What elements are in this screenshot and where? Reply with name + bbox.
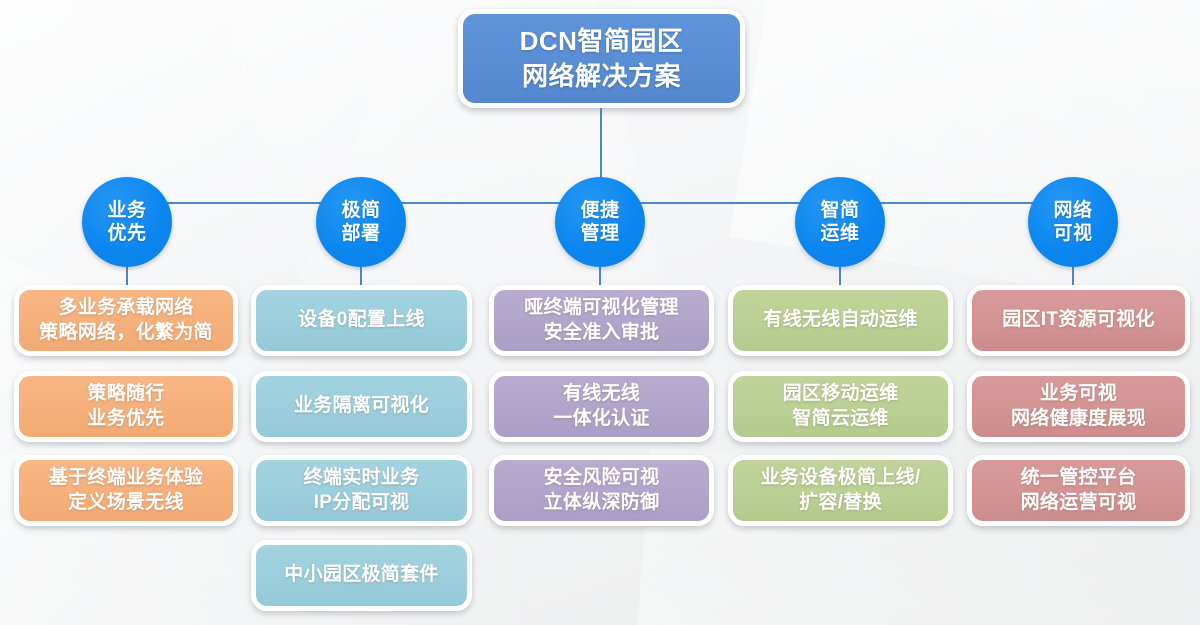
feature-box-text: 安全风险可视 立体纵深防御 xyxy=(544,466,660,515)
feature-box-simple-deployment-4[interactable]: 中小园区极简套件 xyxy=(251,540,472,611)
branch-node-label: 业务 优先 xyxy=(107,199,146,245)
branch-node-label: 网络 可视 xyxy=(1053,199,1092,245)
branch-node-network-visibility[interactable]: 网络 可视 xyxy=(1028,177,1118,267)
branch-node-simple-deployment[interactable]: 极简 部署 xyxy=(316,177,406,267)
feature-box-convenient-management-1[interactable]: 哑终端可视化管理 安全准入审批 xyxy=(489,285,714,356)
feature-box-network-visibility-1[interactable]: 园区IT资源可视化 xyxy=(967,285,1190,356)
branch-node-label: 智简 运维 xyxy=(820,199,859,245)
feature-box-network-visibility-3[interactable]: 统一管控平台 网络运营可视 xyxy=(967,455,1190,526)
background-facet xyxy=(730,0,1200,318)
solution-title-box: DCN智简园区 网络解决方案 xyxy=(458,9,745,108)
feature-box-smart-ops-1[interactable]: 有线无线自动运维 xyxy=(728,285,953,356)
feature-box-text: 统一管控平台 网络运营可视 xyxy=(1021,466,1137,515)
feature-box-text: 业务隔离可视化 xyxy=(294,394,429,419)
feature-box-text: 多业务承载网络 策略网络，化繁为简 xyxy=(39,296,213,345)
feature-box-text: 中小园区极简套件 xyxy=(284,563,438,588)
branch-node-smart-ops[interactable]: 智简 运维 xyxy=(795,177,885,267)
feature-box-text: 终端实时业务 IP分配可视 xyxy=(304,466,420,515)
branch-node-business-first[interactable]: 业务 优先 xyxy=(82,177,172,267)
diagram-canvas: DCN智简园区 网络解决方案 业务 优先 极简 部署 便捷 管理 智简 运维 网… xyxy=(0,0,1200,625)
branch-node-label: 便捷 管理 xyxy=(580,199,619,245)
feature-box-convenient-management-3[interactable]: 安全风险可视 立体纵深防御 xyxy=(489,455,714,526)
feature-box-text: 有线无线 一体化认证 xyxy=(553,382,650,431)
branch-node-label: 极简 部署 xyxy=(341,199,380,245)
feature-box-smart-ops-2[interactable]: 园区移动运维 智简云运维 xyxy=(728,371,953,442)
feature-box-text: 园区IT资源可视化 xyxy=(1002,308,1155,333)
feature-box-business-first-3[interactable]: 基于终端业务体验 定义场景无线 xyxy=(14,455,238,526)
feature-box-text: 业务设备极简上线/ 扩容/替换 xyxy=(761,466,921,515)
solution-title-text: DCN智简园区 网络解决方案 xyxy=(520,24,684,93)
feature-box-smart-ops-3[interactable]: 业务设备极简上线/ 扩容/替换 xyxy=(728,455,953,526)
feature-box-text: 策略随行 业务优先 xyxy=(87,382,164,431)
feature-box-text: 有线无线自动运维 xyxy=(763,308,917,333)
feature-box-text: 基于终端业务体验 定义场景无线 xyxy=(49,466,203,515)
connector-title-to-spine xyxy=(600,108,602,178)
feature-box-simple-deployment-2[interactable]: 业务隔离可视化 xyxy=(251,371,472,442)
feature-box-simple-deployment-3[interactable]: 终端实时业务 IP分配可视 xyxy=(251,455,472,526)
feature-box-network-visibility-2[interactable]: 业务可视 网络健康度展现 xyxy=(967,371,1190,442)
feature-box-text: 哑终端可视化管理 安全准入审批 xyxy=(524,296,678,345)
feature-box-business-first-1[interactable]: 多业务承载网络 策略网络，化繁为简 xyxy=(14,285,238,356)
feature-box-text: 设备0配置上线 xyxy=(298,308,425,333)
branch-node-convenient-management[interactable]: 便捷 管理 xyxy=(555,177,645,267)
feature-box-text: 园区移动运维 智简云运维 xyxy=(783,382,899,431)
feature-box-text: 业务可视 网络健康度展现 xyxy=(1011,382,1146,431)
feature-box-business-first-2[interactable]: 策略随行 业务优先 xyxy=(14,371,238,442)
feature-box-simple-deployment-1[interactable]: 设备0配置上线 xyxy=(251,285,472,356)
feature-box-convenient-management-2[interactable]: 有线无线 一体化认证 xyxy=(489,371,714,442)
